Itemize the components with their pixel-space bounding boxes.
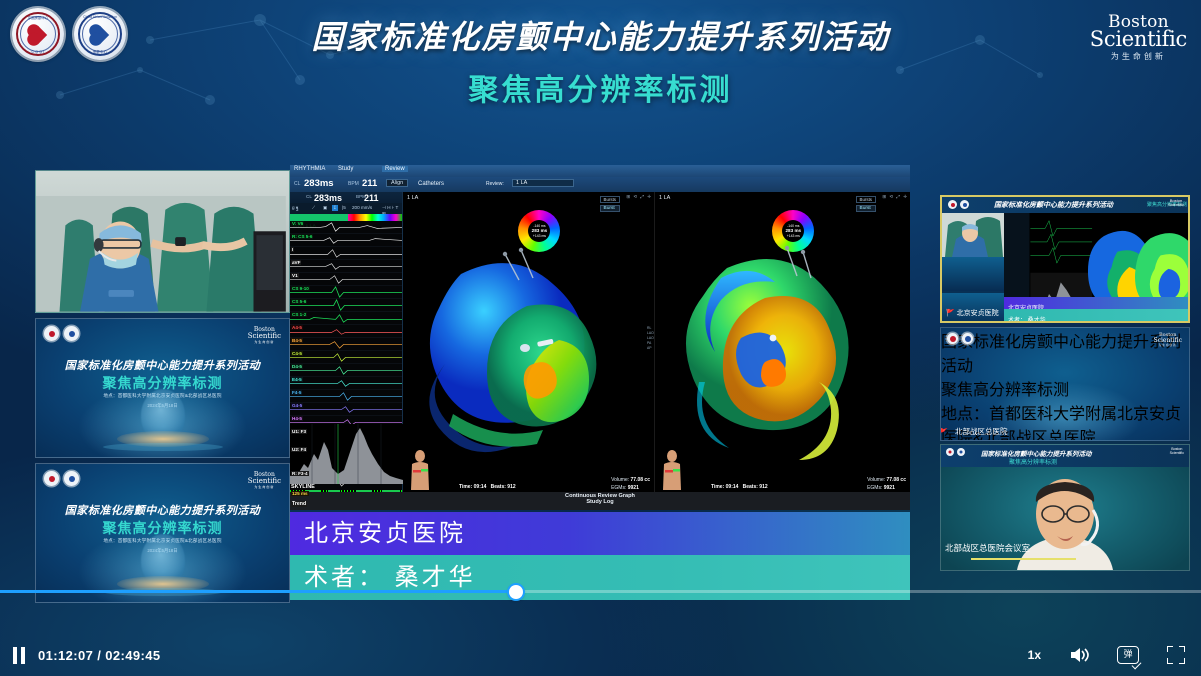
header-titles: 国家标准化房颤中心能力提升系列活动 聚焦高分辨率标测 bbox=[0, 12, 1201, 109]
la-chamber-3d-mesh[interactable] bbox=[409, 244, 649, 484]
afib-center-emblem bbox=[957, 448, 965, 456]
nested-header: 国家标准化房颤中心能力提升系列活动 聚焦高分辨率标测 Boston Scient… bbox=[941, 445, 1189, 467]
slide-title: 国家标准化房颤中心能力提升系列活动 bbox=[36, 357, 289, 373]
nested-subtitle: 聚焦高分辨率标测 bbox=[1009, 457, 1057, 466]
highlight-underline bbox=[971, 558, 1076, 560]
ep-menu-bar[interactable]: RHYTHMIA Study Review bbox=[290, 165, 910, 177]
afib-center-emblem bbox=[64, 471, 79, 486]
burst-button[interactable]: Burst bbox=[856, 205, 876, 212]
page-subtitle: 聚焦高分辨率标测 bbox=[0, 65, 1201, 109]
progress-bar[interactable] bbox=[0, 590, 1201, 593]
ecg-tool-row[interactable]: ɡ 3 ▾ ⟋ ▣ ↧ |5 200 mm/s ⊣ H ⊦ T ⊞ bbox=[290, 203, 402, 214]
cycle-length-label: CL bbox=[294, 181, 300, 187]
wheel-low-value: +143 ms bbox=[786, 234, 802, 238]
nested-operator-banner: 术者： 桑才华 bbox=[1004, 309, 1188, 321]
menu-study[interactable]: Study bbox=[338, 166, 353, 172]
boston-scientific-logo: Boston Scientific bbox=[1168, 199, 1184, 208]
align-button[interactable]: Align bbox=[386, 179, 408, 187]
map-pane-right[interactable]: 1 LA ⊞ ⟲ ⤢ ✛ Bursts Burst -140 ms 283 ms… bbox=[655, 192, 910, 510]
progress-fill bbox=[0, 590, 516, 593]
nested-slide-thumbs[interactable] bbox=[942, 257, 1004, 299]
speaker-portrait bbox=[1005, 474, 1125, 570]
hospital-overlay-banner: 北京安贞医院 bbox=[290, 512, 910, 555]
boston-scientific-logo: Boston Scientific 为生命创新 bbox=[1090, 14, 1187, 61]
nested-hospital-banner: 北京安贞医院 bbox=[1004, 297, 1188, 309]
wheel-low-value: +143 ms bbox=[532, 234, 548, 238]
cqqi-emblem bbox=[44, 471, 59, 486]
nested-title: 国家标准化房颤中心能力提升系列活动 bbox=[994, 200, 1113, 210]
afib-center-emblem bbox=[960, 200, 969, 209]
video-player-controls[interactable]: 01:12:07 / 02:49:45 1x 弹 bbox=[0, 618, 1201, 676]
sweep-speed-value[interactable]: 200 mm/s bbox=[352, 205, 372, 210]
or-staff-group bbox=[36, 196, 286, 312]
gain-value[interactable]: ɡ 3 ▾ bbox=[292, 205, 298, 211]
source-tag: 北部战区总医院 bbox=[955, 426, 1008, 437]
nested-header: 国家标准化房颤中心能力提升系列活动 聚焦高分辨率标测 Boston Scient… bbox=[942, 197, 1188, 213]
review-label: Review: bbox=[486, 181, 504, 187]
brand-line2: Scientific bbox=[1090, 29, 1187, 50]
emblem-group bbox=[44, 471, 79, 486]
ecg-trace[interactable]: I bbox=[290, 247, 402, 260]
emblem-group bbox=[946, 448, 965, 456]
ep-workspace: CL 283ms BPM 211 ɡ 3 ▾ ⟋ ▣ ↧ |5 200 mm/s… bbox=[290, 192, 910, 510]
view-orientation-codes[interactable]: RL LAO LAO PA AP bbox=[647, 326, 654, 352]
ecg-trace[interactable]: F4-5 bbox=[290, 390, 402, 403]
left-column: Boston Scientific 为生命创新 国家标准化房颤中心能力提升系列活… bbox=[35, 170, 290, 603]
wheel-mid-value: 283 ms bbox=[786, 228, 802, 234]
broadcast-header: 中国房颤中心 C Q Q I China Atrial Fibrillation… bbox=[0, 0, 1201, 118]
ecg-trace[interactable]: CS 9-10 bbox=[290, 286, 402, 299]
page-title: 国家标准化房颤中心能力提升系列活动 bbox=[0, 12, 1201, 58]
slide-title: 国家标准化房颤中心能力提升系列活动 bbox=[941, 328, 1189, 376]
flag-icon: 🚩 bbox=[940, 428, 948, 437]
slide-subtitle: 聚焦高分辨率标测 bbox=[941, 376, 1189, 400]
burst-controls[interactable]: Bursts Burst bbox=[856, 196, 876, 212]
review-select[interactable]: 1 LA bbox=[512, 179, 574, 187]
cycle-length-label: CL bbox=[306, 194, 312, 199]
brand-line2: Scientific bbox=[1170, 452, 1184, 456]
ecg-header: CL 283ms BPM 211 ɡ 3 ▾ ⟋ ▣ ↧ |5 200 mm/s… bbox=[290, 192, 402, 214]
catheters-menu[interactable]: Catheters bbox=[418, 181, 444, 187]
activation-color-bar bbox=[348, 214, 402, 221]
emblem-group bbox=[44, 326, 79, 341]
playback-speed-button[interactable]: 1x bbox=[1028, 648, 1041, 662]
ecg-trace[interactable]: CS 5-6 bbox=[290, 299, 402, 312]
cycle-length-value: 283ms bbox=[314, 193, 342, 203]
page-icon[interactable]: ▣ bbox=[323, 205, 327, 211]
cursor-icon[interactable]: ↧ bbox=[332, 205, 338, 211]
boston-scientific-logo: Boston Scientific 为生命创新 bbox=[248, 472, 281, 489]
fullscreen-button[interactable] bbox=[1167, 646, 1185, 664]
bpm-value: 211 bbox=[364, 193, 379, 203]
title-slide-thumbnail-2[interactable]: Boston Scientific 为生命创新 国家标准化房颤中心能力提升系列活… bbox=[35, 463, 290, 603]
brand-tagline: 为生命创新 bbox=[1090, 53, 1187, 61]
emblem-group bbox=[947, 333, 973, 344]
ecg-trace[interactable]: C4-5 bbox=[290, 351, 402, 364]
ecg-trace[interactable]: V1 bbox=[290, 273, 402, 286]
brand-tagline: 为生命创新 bbox=[248, 486, 281, 489]
right-controls: 1x 弹 bbox=[1028, 646, 1185, 664]
operating-room-feed[interactable] bbox=[35, 170, 290, 313]
nested-source-tag: 🚩 北京安贞医院 bbox=[946, 308, 999, 318]
study-log-tab[interactable]: Study Log bbox=[290, 499, 910, 505]
map-stats-right: Time: 09:14 Beats: 912 bbox=[711, 484, 768, 490]
burst-button[interactable]: Burst bbox=[600, 205, 620, 212]
cqqi-emblem bbox=[946, 448, 954, 456]
app-name-label: RHYTHMIA bbox=[294, 166, 325, 172]
left-controls: 01:12:07 / 02:49:45 bbox=[12, 647, 161, 664]
pause-button[interactable] bbox=[12, 647, 26, 664]
pane-tool-icons[interactable]: ⊞ ⟲ ⤢ ✛ bbox=[882, 194, 908, 200]
operator-name: 术者： 桑才华 bbox=[304, 564, 476, 591]
right-column: 国家标准化房颤中心能力提升系列活动 聚焦高分辨率标测 Boston Scient… bbox=[940, 195, 1190, 571]
cqqi-emblem bbox=[947, 333, 958, 344]
bpm-value: 211 bbox=[362, 178, 377, 189]
slide-title: 国家标准化房颤中心能力提升系列活动 bbox=[36, 502, 289, 518]
ecg-trace[interactable]: D4-5 bbox=[290, 364, 402, 377]
bpm-label: BPM bbox=[348, 181, 359, 187]
map-label: 1 LA bbox=[407, 195, 418, 201]
map-label: 1 LA bbox=[659, 195, 670, 201]
ecg-trace[interactable]: B4-5 bbox=[290, 338, 402, 351]
remote-speaker-feed[interactable]: 国家标准化房颤中心能力提升系列活动 聚焦高分辨率标测 Boston Scient… bbox=[940, 444, 1190, 571]
pane-tool-icons[interactable]: ⊞ ⟲ ⤢ ✛ bbox=[626, 194, 652, 200]
ecg-trace[interactable]: E4-5 bbox=[290, 377, 402, 390]
patient-orientation-torso bbox=[409, 450, 431, 490]
volume-icon[interactable] bbox=[1069, 646, 1089, 664]
caliper-icon[interactable]: ⟋ bbox=[312, 205, 315, 210]
continuous-review-graph-tab[interactable]: Continuous Review Graph bbox=[290, 492, 910, 499]
title-slide-thumbnail-right[interactable]: Boston Scientific 为生命创新 国家标准化房颤中心能力提升系列活… bbox=[940, 327, 1190, 441]
brand-line2: Scientific bbox=[1168, 203, 1184, 207]
la-chamber-3d-mesh[interactable] bbox=[669, 242, 899, 482]
patient-orientation-torso bbox=[661, 450, 683, 490]
time-display: 01:12:07 / 02:49:45 bbox=[38, 648, 161, 663]
live-map-badge: Live: 1 LA bbox=[290, 214, 348, 221]
afib-center-emblem bbox=[962, 333, 973, 344]
burst-controls[interactable]: Bursts Burst bbox=[600, 196, 620, 212]
boston-scientific-logo: Boston Scientific 为生命创新 bbox=[248, 327, 281, 344]
operator-overlay-banner: 术者： 桑才华 bbox=[290, 555, 910, 600]
map-pane-left[interactable]: 1 LA ⊞ ⟲ ⤢ ✛ Bursts Burst -140 ms 283 ms… bbox=[403, 192, 655, 510]
podium-glow bbox=[103, 443, 223, 451]
ecg-trace-list[interactable]: V: V6 R: CS 5-6 I aVF V1 CS 9-10 CS 5-6 bbox=[290, 221, 402, 450]
bursts-menu[interactable]: Bursts bbox=[856, 196, 876, 203]
boston-scientific-logo: Boston Scientific 为生命创新 bbox=[1154, 333, 1183, 347]
ecg-trace[interactable]: CS 1-2 bbox=[290, 312, 402, 325]
cycle-length-value: 283ms bbox=[304, 178, 334, 189]
cqqi-emblem bbox=[44, 326, 59, 341]
ep-toolbar[interactable]: CL 283ms BPM 211 Align Catheters Review:… bbox=[290, 177, 910, 192]
map-volume-stats-right: Volume: 77.08 cc EGMs: 9921 bbox=[867, 477, 906, 492]
brand-tagline: 为生命创新 bbox=[248, 341, 281, 344]
title-slide-thumbnail-1[interactable]: Boston Scientific 为生命创新 国家标准化房颤中心能力提升系列活… bbox=[35, 318, 290, 458]
source-tag: 北部战区总医院会议室 bbox=[945, 542, 1030, 554]
video-player-stage: 中国房颤中心 C Q Q I China Atrial Fibrillation… bbox=[0, 0, 1201, 676]
wheel-mid-value: 283 ms bbox=[532, 228, 548, 234]
emblem-group bbox=[948, 200, 969, 209]
ecg-trace[interactable]: G4-5 bbox=[290, 403, 402, 416]
map-volume-stats-left: Volume: 77.08 cc EGMs: 9921 bbox=[611, 477, 650, 492]
ep-footer-tabs[interactable]: Continuous Review Graph Study Log bbox=[290, 492, 910, 510]
nested-broadcast-feed[interactable]: 国家标准化房颤中心能力提升系列活动 聚焦高分辨率标测 Boston Scient… bbox=[940, 195, 1190, 323]
danmaku-toggle[interactable]: 弹 bbox=[1117, 646, 1139, 664]
ecg-strip-panel[interactable]: CL 283ms BPM 211 ɡ 3 ▾ ⟋ ▣ ↧ |5 200 mm/s… bbox=[290, 192, 403, 510]
ecg-trace[interactable]: A4-5 bbox=[290, 325, 402, 338]
ecg-trace[interactable]: V: V6 bbox=[290, 221, 402, 234]
cqqi-emblem bbox=[948, 200, 957, 209]
ecg-trace[interactable]: aVF bbox=[290, 260, 402, 273]
progress-handle[interactable] bbox=[509, 585, 523, 599]
hospital-name: 北京安贞医院 bbox=[304, 520, 466, 547]
map-stats-left: Time: 09:14 Beats: 912 bbox=[459, 484, 516, 490]
scale-label: |5 bbox=[342, 205, 346, 210]
menu-review[interactable]: Review bbox=[382, 166, 408, 172]
boston-scientific-logo: Boston Scientific bbox=[1170, 448, 1184, 456]
brand-tagline: 为生命创新 bbox=[1154, 345, 1183, 348]
ecg-trace[interactable]: R: CS 5-6 bbox=[290, 234, 402, 247]
ep-recording-system[interactable]: RHYTHMIA Study Review CL 283ms BPM 211 A… bbox=[290, 165, 910, 510]
bursts-menu[interactable]: Bursts bbox=[600, 196, 620, 203]
afib-center-emblem bbox=[64, 326, 79, 341]
